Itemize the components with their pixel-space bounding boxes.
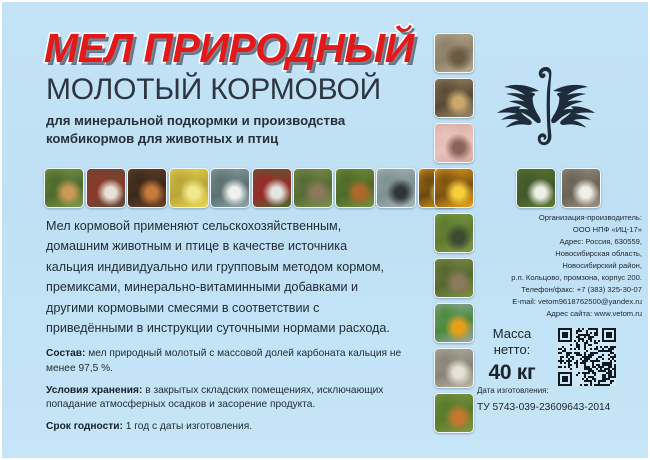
photo-ostriches bbox=[434, 33, 474, 73]
photo-bees-2 bbox=[434, 168, 474, 208]
photo-rooster bbox=[86, 168, 126, 208]
description-line-2: комбикормов для животных и птиц bbox=[46, 130, 434, 148]
storage-label: Условия хранения: bbox=[46, 385, 142, 396]
photo-cows bbox=[376, 168, 416, 208]
photo-ducks bbox=[293, 168, 333, 208]
photo-sheep bbox=[434, 348, 474, 388]
mass-label-line-1: Масса bbox=[476, 326, 548, 342]
page-title: МЕЛ ПРИРОДНЫЙ bbox=[44, 28, 434, 70]
product-usage-text: Мел кормовой применяют сельскохозяйствен… bbox=[46, 216, 398, 338]
tu-code: ТУ 5743-039-23609643-2014 bbox=[477, 402, 610, 413]
photo-goose bbox=[210, 168, 250, 208]
photo-chickens bbox=[127, 168, 167, 208]
date-of-manufacture-label: Дата изготовления: bbox=[477, 386, 549, 395]
manufacturer-info: Организация-производитель: ООО НПФ «ИЦ-1… bbox=[470, 212, 642, 320]
shelf-life-label: Срок годности: bbox=[46, 421, 123, 432]
photo-turkey bbox=[252, 168, 292, 208]
composition-row: Состав: мел природный молотый с массовой… bbox=[46, 347, 421, 377]
manufacturer-line-3: Адрес: Россия, 630559, bbox=[470, 236, 642, 248]
photo-cow bbox=[434, 213, 474, 253]
manufacturer-line-1: Организация-производитель: bbox=[470, 212, 642, 224]
manufacturer-website: Адрес сайта: www.vetom.ru bbox=[470, 308, 642, 320]
shelf-life-row: Срок годности: 1 год с даты изготовления… bbox=[46, 420, 421, 435]
mass-value: 40 кг bbox=[476, 361, 548, 385]
photo-calf bbox=[44, 168, 84, 208]
photo-cow-brown bbox=[434, 393, 474, 433]
photo-pig bbox=[434, 123, 474, 163]
manufacturer-phone: Телефон/факс: +7 (383) 325-30-07 bbox=[470, 284, 642, 296]
usage-paragraph: Мел кормовой применяют сельскохозяйствен… bbox=[46, 216, 398, 338]
composition-label: Состав: bbox=[46, 348, 85, 359]
photo-ducklings bbox=[169, 168, 209, 208]
manufacturer-line-4: Новосибирская область, bbox=[470, 248, 642, 260]
manufacturer-line-5: Новосибирский район, bbox=[470, 260, 642, 272]
product-subtitle: МОЛОТЫЙ КОРМОВОЙ bbox=[46, 74, 434, 106]
qr-code-icon bbox=[558, 328, 616, 386]
description-line-1: для минеральной подкормки и производства bbox=[46, 112, 434, 130]
shelf-life-value: 1 год с даты изготовления. bbox=[126, 421, 252, 432]
headline-block: МЕЛ ПРИРОДНЫЙ МОЛОТЫЙ КОРМОВОЙ для минер… bbox=[44, 28, 434, 148]
mass-label-line-2: нетто: bbox=[476, 342, 548, 358]
specifications-block: Состав: мел природный молотый с массовой… bbox=[46, 347, 421, 435]
photo-parrots bbox=[434, 303, 474, 343]
photo-cattle bbox=[335, 168, 375, 208]
manufacturer-email: E-mail: vetom9618762500@yandex.ru bbox=[470, 296, 642, 308]
composition-value: мел природный молотый с массовой долей к… bbox=[46, 348, 401, 374]
photo-rabbits bbox=[434, 258, 474, 298]
photo-goat bbox=[516, 168, 556, 208]
photo-dog bbox=[434, 78, 474, 118]
manufacturer-line-2: ООО НПФ «ИЦ-17» bbox=[470, 224, 642, 236]
product-label: МЕЛ ПРИРОДНЫЙ МОЛОТЫЙ КОРМОВОЙ для минер… bbox=[0, 0, 650, 460]
winged-plant-emblem-icon bbox=[487, 57, 605, 157]
manufacturer-line-6: р.п. Кольцово, промзона, корпус 200. bbox=[470, 272, 642, 284]
product-description: для минеральной подкормки и производства… bbox=[46, 112, 434, 147]
storage-row: Условия хранения: в закрытых складских п… bbox=[46, 384, 421, 414]
photo-horse bbox=[561, 168, 601, 208]
net-mass-block: Масса нетто: 40 кг bbox=[476, 326, 548, 385]
